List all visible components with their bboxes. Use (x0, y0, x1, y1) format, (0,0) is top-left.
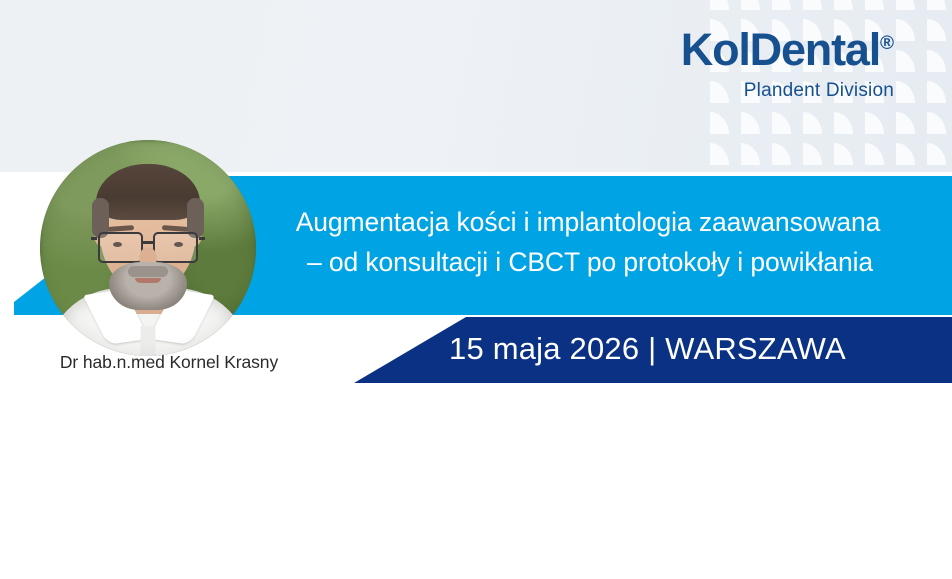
tooth-pattern-tile (741, 143, 760, 165)
tooth-pattern-tile (772, 112, 791, 134)
tooth-pattern-tile (741, 112, 760, 134)
tooth-pattern-tile (834, 0, 853, 10)
tooth-pattern-tile (927, 50, 946, 72)
course-title-line-1: Augmentacja kości i implantologia zaawan… (256, 202, 920, 242)
tooth-pattern-tile (741, 0, 760, 10)
tooth-pattern-tile (896, 50, 915, 72)
tooth-pattern-tile (834, 112, 853, 134)
tooth-pattern-tile (772, 143, 791, 165)
course-title-line-2: – od konsultacji i CBCT po protokoły i p… (260, 242, 920, 282)
tooth-pattern-tile (896, 19, 915, 41)
tooth-pattern-tile (896, 81, 915, 103)
tooth-pattern-tile (927, 81, 946, 103)
tooth-pattern-tile (865, 143, 884, 165)
speaker-name-label: Dr hab.n.med Kornel Krasny (0, 352, 338, 373)
tooth-pattern-tile (772, 0, 791, 10)
portrait-vignette (40, 140, 256, 356)
tooth-pattern-tile (927, 112, 946, 134)
tooth-pattern-tile (710, 143, 729, 165)
logo-tagline: Plandent Division (681, 81, 894, 100)
tooth-pattern-tile (927, 0, 946, 10)
tooth-pattern-tile (803, 112, 822, 134)
tooth-pattern-tile (896, 143, 915, 165)
promo-banner-canvas: KolDental® Plandent Division Augmentacja… (0, 0, 952, 579)
tooth-pattern-tile (927, 19, 946, 41)
registered-trademark-icon: ® (880, 33, 894, 54)
tooth-pattern-tile (803, 0, 822, 10)
logo-wordmark: KolDental® (681, 27, 894, 72)
tooth-pattern-tile (865, 0, 884, 10)
tooth-pattern-tile (834, 143, 853, 165)
tooth-pattern-tile (896, 112, 915, 134)
tooth-pattern-tile (927, 143, 946, 165)
tooth-pattern-tile (710, 112, 729, 134)
event-date-location: 15 maja 2026 | WARSZAWA (449, 331, 846, 367)
logo-name-part2: Dental (750, 24, 880, 75)
logo-name-part1: Kol (681, 24, 750, 75)
course-title: Augmentacja kości i implantologia zaawan… (256, 202, 920, 282)
tooth-pattern-tile (865, 112, 884, 134)
tooth-pattern-tile (803, 143, 822, 165)
tooth-pattern-tile (896, 0, 915, 10)
speaker-portrait-avatar (40, 140, 256, 356)
koldental-logo: KolDental® Plandent Division (681, 27, 894, 100)
tooth-pattern-tile (710, 0, 729, 10)
